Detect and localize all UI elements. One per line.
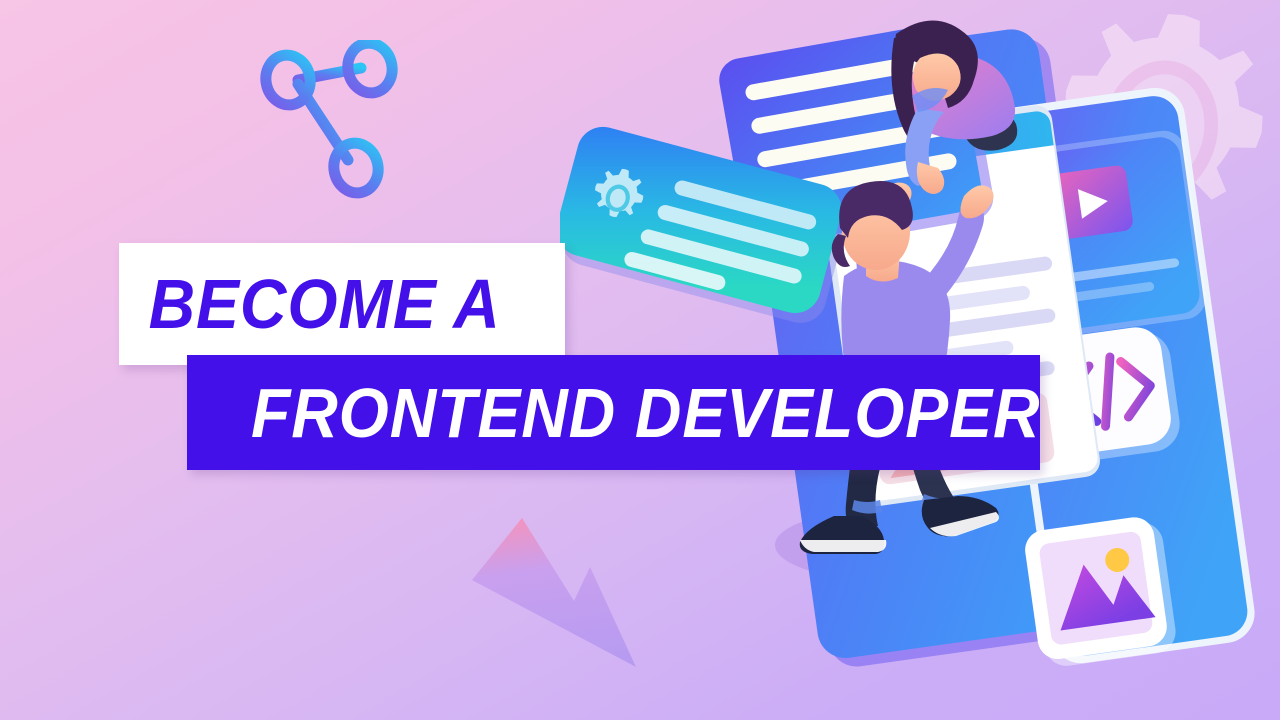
headline-line-1: BECOME A <box>149 269 501 339</box>
headline-line-2: FRONTEND DEVELOPER <box>251 378 1040 448</box>
headline-band-2: FRONTEND DEVELOPER <box>187 355 1040 470</box>
headline-group: BECOME A FRONTEND DEVELOPER <box>0 0 1280 720</box>
headline-band-1: BECOME A <box>119 243 565 365</box>
poster-canvas: BECOME A FRONTEND DEVELOPER <box>0 0 1280 720</box>
